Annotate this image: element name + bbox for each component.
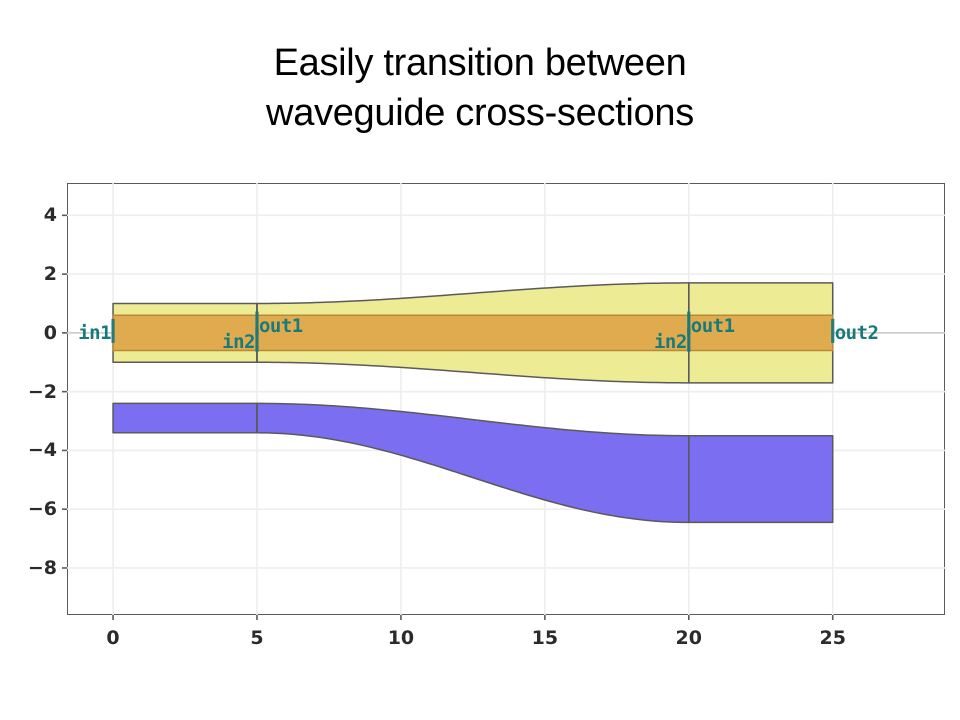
y-tick-label: −2 [5, 381, 57, 403]
slide-title: Easily transition between waveguide cros… [0, 38, 960, 138]
x-tick-label: 25 [819, 627, 845, 649]
y-tick-label: 0 [5, 322, 57, 344]
x-tick-label: 5 [250, 627, 263, 649]
x-tick-label: 20 [676, 627, 702, 649]
shape-purple-sbend-taper [257, 403, 689, 522]
y-tick-label: −8 [5, 557, 57, 579]
waveguide-figure: 420−2−4−6−8 0510152025 in1out1in2out1in2… [0, 160, 960, 680]
shape-purple-straight [113, 403, 257, 432]
y-tick-label: −4 [5, 439, 57, 461]
y-tick-label: 4 [5, 204, 57, 226]
x-tick-label: 15 [532, 627, 558, 649]
plot-data-layer [0, 160, 960, 680]
port-label-in1: in1 [78, 322, 111, 344]
x-tick-label: 0 [106, 627, 119, 649]
shape-purple-output [689, 436, 833, 523]
port-label-in2-right: in2 [654, 331, 687, 353]
slide-canvas: Easily transition between waveguide cros… [0, 0, 960, 720]
port-label-in2-left: in2 [222, 331, 255, 353]
y-tick-label: −6 [5, 498, 57, 520]
y-tick-label: 2 [5, 263, 57, 285]
port-label-out1-left: out1 [259, 315, 303, 337]
port-label-out1-right: out1 [691, 315, 735, 337]
port-label-out2: out2 [835, 322, 879, 344]
x-tick-label: 10 [388, 627, 414, 649]
